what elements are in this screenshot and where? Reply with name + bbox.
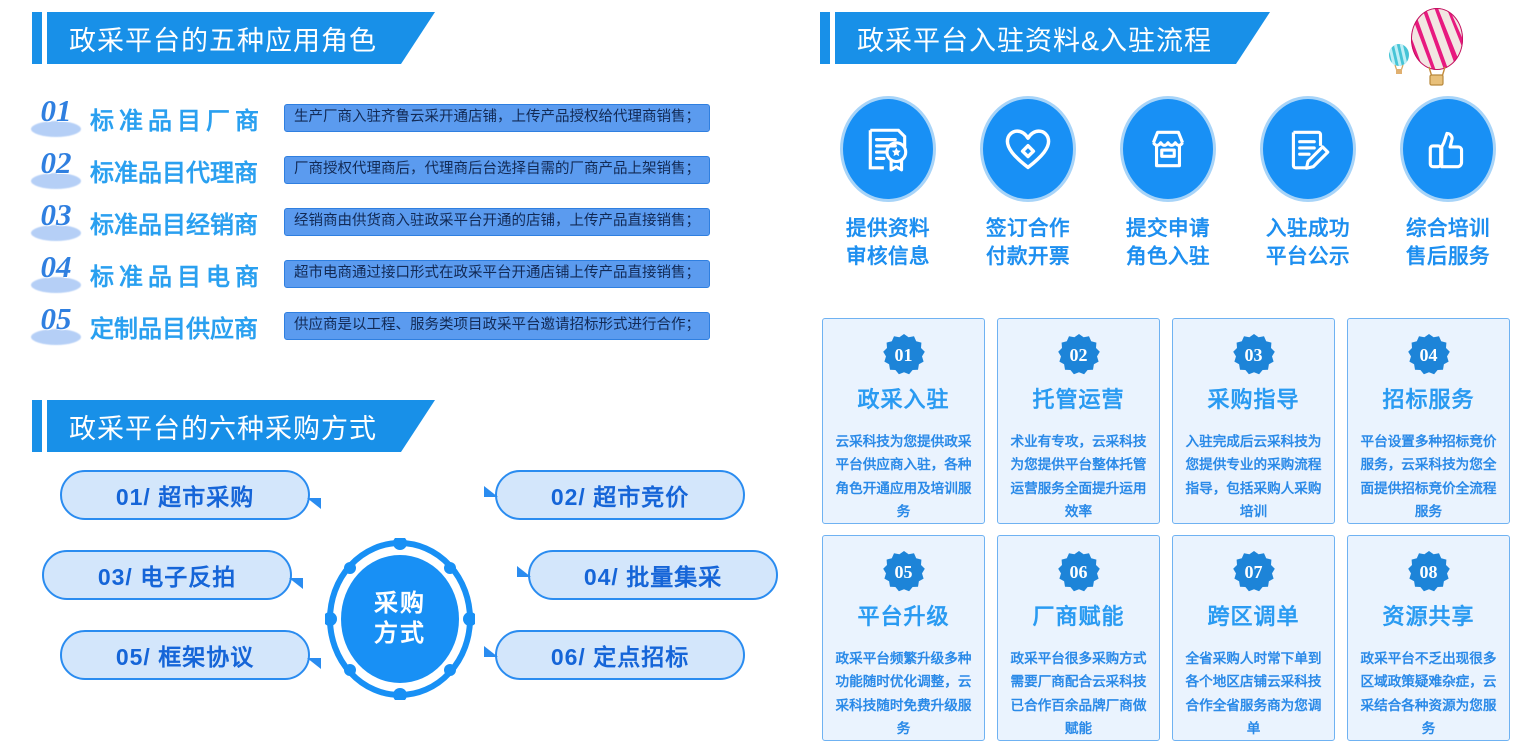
card-badge-number: 02 [1057, 333, 1101, 377]
step-caption-line2: 售后服务 [1406, 243, 1490, 271]
step-caption: 提供资料 审核信息 [846, 215, 930, 270]
step-item: 签订合作 付款开票 [958, 96, 1098, 291]
card-badge: 05 [882, 550, 926, 594]
method-pill-05[interactable]: 05/ 框架协议 [60, 630, 310, 680]
step-caption-line1: 提交申请 [1126, 215, 1210, 243]
handshake-hearts-icon [1002, 123, 1054, 175]
hot-air-balloon-icon [1385, 5, 1477, 93]
role-row: 02 标准品目代理商 厂商授权代理商后，代理商后台选择自需的厂商产品上架销售； [28, 144, 788, 196]
role-description-chip: 经销商由供货商入驻政采平台开通的店铺，上传产品直接销售； [284, 208, 710, 236]
method-pill-text-01: 01/ 超市采购 [116, 478, 254, 512]
card-badge: 03 [1232, 333, 1276, 377]
service-card[interactable]: 06 厂商赋能 政采平台很多采购方式需要厂商配合云采科技已合作百余品牌厂商做赋能 [997, 535, 1160, 741]
card-badge-number: 01 [882, 333, 926, 377]
banner-accent-bar [820, 12, 830, 64]
role-number: 01 [28, 95, 84, 141]
banner-gap [42, 12, 47, 64]
card-description: 政采平台频繁升级多种功能随时优化调整，云采科技随时免费升级服务 [823, 647, 984, 741]
method-pill-06[interactable]: 06/ 定点招标 [495, 630, 745, 680]
card-badge: 06 [1057, 550, 1101, 594]
service-card[interactable]: 04 招标服务 平台设置多种招标竞价服务，云采科技为您全面提供招标竞价全流程服务 [1347, 318, 1510, 524]
role-label: 标准品目电商 [90, 257, 276, 292]
role-number-text: 01 [28, 93, 84, 129]
card-description: 平台设置多种招标竞价服务，云采科技为您全面提供招标竞价全流程服务 [1348, 430, 1509, 524]
card-badge-number: 03 [1232, 333, 1276, 377]
role-row: 04 标准品目电商 超市电商通过接口形式在政采平台开通店铺上传产品直接销售； [28, 248, 788, 300]
banner-plate: 政采平台的六种采购方式 [47, 400, 435, 452]
card-description: 术业有专攻，云采科技为您提供平台整体托管运营服务全面提升运用效率 [998, 430, 1159, 524]
role-description-chip: 供应商是以工程、服务类项目政采平台邀请招标形式进行合作； [284, 312, 710, 340]
role-description-chip: 厂商授权代理商后，代理商后台选择自需的厂商产品上架销售； [284, 156, 710, 184]
step-item: 提交申请 角色入驻 [1098, 96, 1238, 291]
role-number-text: 05 [28, 301, 84, 337]
role-label: 标准品目经销商 [90, 205, 276, 240]
role-description-chip: 生产厂商入驻齐鲁云采开通店铺，上传产品授权给代理商销售； [284, 104, 710, 132]
card-description: 全省采购人时常下单到各个地区店铺云采科技合作全省服务商为您调单 [1173, 647, 1334, 741]
service-card[interactable]: 08 资源共享 政采平台不乏出现很多区域政策疑难杂症，云采结合各种资源为您服务 [1347, 535, 1510, 741]
roles-section-title: 政采平台的五种应用角色 [69, 19, 377, 58]
card-badge: 04 [1407, 333, 1451, 377]
method-pill-04[interactable]: 04/ 批量集采 [528, 550, 778, 600]
step-caption: 提交申请 角色入驻 [1126, 215, 1210, 270]
banner-plate: 政采平台入驻资料&入驻流程 [835, 12, 1270, 64]
banner-gap [42, 400, 47, 452]
card-badge-number: 04 [1407, 333, 1451, 377]
role-label: 标准品目代理商 [90, 153, 276, 188]
card-description: 政采平台不乏出现很多区域政策疑难杂症，云采结合各种资源为您服务 [1348, 647, 1509, 741]
hub-line-2: 方式 [374, 619, 426, 649]
method-pill-01[interactable]: 01/ 超市采购 [60, 470, 310, 520]
step-caption-line1: 提供资料 [846, 215, 930, 243]
role-number: 03 [28, 199, 84, 245]
role-label: 标准品目厂商 [90, 101, 276, 136]
role-description-chip: 超市电商通过接口形式在政采平台开通店铺上传产品直接销售； [284, 260, 710, 288]
pill-tail-icon [307, 498, 321, 509]
service-card[interactable]: 07 跨区调单 全省采购人时常下单到各个地区店铺云采科技合作全省服务商为您调单 [1172, 535, 1335, 741]
service-card[interactable]: 01 政采入驻 云采科技为您提供政采平台供应商入驻，各种角色开通应用及培训服务 [822, 318, 985, 524]
card-title: 平台升级 [857, 599, 949, 631]
pill-tail-icon [484, 486, 498, 497]
method-pill-text-03: 03/ 电子反拍 [98, 558, 236, 592]
storefront-icon [1143, 124, 1193, 174]
role-number-text: 03 [28, 197, 84, 233]
card-title: 资源共享 [1382, 599, 1474, 631]
method-pill-text-04: 04/ 批量集采 [584, 558, 722, 592]
role-number: 02 [28, 147, 84, 193]
hub-line-1: 采购 [374, 589, 426, 619]
service-card[interactable]: 02 托管运营 术业有专攻，云采科技为您提供平台整体托管运营服务全面提升运用效率 [997, 318, 1160, 524]
card-description: 云采科技为您提供政采平台供应商入驻，各种角色开通应用及培训服务 [823, 430, 984, 524]
step-caption: 入驻成功 平台公示 [1266, 215, 1350, 270]
banner-accent-bar [32, 400, 42, 452]
role-number: 04 [28, 251, 84, 297]
hub-core: 采购 方式 [341, 555, 459, 683]
method-pill-02[interactable]: 02/ 超市竞价 [495, 470, 745, 520]
step-caption-line1: 综合培训 [1406, 215, 1490, 243]
step-icon-circle [980, 96, 1076, 202]
role-row: 05 定制品目供应商 供应商是以工程、服务类项目政采平台邀请招标形式进行合作； [28, 300, 788, 352]
onboarding-steps: 提供资料 审核信息 签订合作 付款开票 [818, 96, 1518, 291]
role-number-text: 02 [28, 145, 84, 181]
banner-plate: 政采平台的五种应用角色 [47, 12, 435, 64]
service-card[interactable]: 05 平台升级 政采平台频繁升级多种功能随时优化调整，云采科技随时免费升级服务 [822, 535, 985, 741]
banner-accent-bar [32, 12, 42, 64]
step-caption: 综合培训 售后服务 [1406, 215, 1490, 270]
methods-section-banner: 政采平台的六种采购方式 [32, 400, 435, 452]
step-icon-circle [1120, 96, 1216, 202]
role-row: 01 标准品目厂商 生产厂商入驻齐鲁云采开通店铺，上传产品授权给代理商销售； [28, 92, 788, 144]
service-cards-grid: 01 政采入驻 云采科技为您提供政采平台供应商入驻，各种角色开通应用及培训服务 … [822, 318, 1512, 746]
step-caption-line1: 入驻成功 [1266, 215, 1350, 243]
step-item: 入驻成功 平台公示 [1238, 96, 1378, 291]
card-title: 招标服务 [1382, 382, 1474, 414]
flow-section-banner: 政采平台入驻资料&入驻流程 [820, 12, 1270, 64]
role-label: 定制品目供应商 [90, 309, 276, 344]
card-badge-number: 05 [882, 550, 926, 594]
step-caption-line1: 签订合作 [986, 215, 1070, 243]
method-pill-text-05: 05/ 框架协议 [116, 638, 254, 672]
step-icon-circle [840, 96, 936, 202]
step-caption-line2: 付款开票 [986, 243, 1070, 271]
step-item: 综合培训 售后服务 [1378, 96, 1518, 291]
card-badge: 01 [882, 333, 926, 377]
method-pill-03[interactable]: 03/ 电子反拍 [42, 550, 292, 600]
step-caption-line2: 平台公示 [1266, 243, 1350, 271]
thumbs-up-icon [1423, 124, 1473, 174]
pill-tail-icon [517, 566, 531, 577]
step-icon-circle [1400, 96, 1496, 202]
card-title: 托管运营 [1032, 382, 1124, 414]
card-title: 采购指导 [1207, 382, 1299, 414]
step-item: 提供资料 审核信息 [818, 96, 958, 291]
card-badge: 07 [1232, 550, 1276, 594]
card-description: 政采平台很多采购方式需要厂商配合云采科技已合作百余品牌厂商做赋能 [998, 647, 1159, 741]
banner-gap [830, 12, 835, 64]
pill-tail-icon [484, 646, 498, 657]
role-number-text: 04 [28, 249, 84, 285]
pill-tail-icon [289, 578, 303, 589]
procurement-hub: 采购 方式 [325, 538, 475, 700]
card-title: 厂商赋能 [1032, 599, 1124, 631]
step-caption-line2: 审核信息 [846, 243, 930, 271]
method-pill-text-02: 02/ 超市竞价 [551, 478, 689, 512]
roles-section-banner: 政采平台的五种应用角色 [32, 12, 435, 64]
step-icon-circle [1260, 96, 1356, 202]
card-badge: 08 [1407, 550, 1451, 594]
card-badge-number: 07 [1232, 550, 1276, 594]
step-caption: 签订合作 付款开票 [986, 215, 1070, 270]
card-badge-number: 08 [1407, 550, 1451, 594]
card-description: 入驻完成后云采科技为您提供专业的采购流程指导，包括采购人采购培训 [1173, 430, 1334, 524]
step-caption-line2: 角色入驻 [1126, 243, 1210, 271]
flow-section-title: 政采平台入驻资料&入驻流程 [857, 19, 1212, 58]
role-number: 05 [28, 303, 84, 349]
document-edit-icon [1283, 124, 1333, 174]
service-card[interactable]: 03 采购指导 入驻完成后云采科技为您提供专业的采购流程指导，包括采购人采购培训 [1172, 318, 1335, 524]
infographic-root: 政采平台的五种应用角色 01 标准品目厂商 生产厂商入驻齐鲁云采开通店铺，上传产… [0, 0, 1529, 752]
roles-list: 01 标准品目厂商 生产厂商入驻齐鲁云采开通店铺，上传产品授权给代理商销售； 0… [28, 92, 788, 352]
card-title: 政采入驻 [857, 382, 949, 414]
role-row: 03 标准品目经销商 经销商由供货商入驻政采平台开通的店铺，上传产品直接销售； [28, 196, 788, 248]
methods-section-title: 政采平台的六种采购方式 [69, 407, 377, 446]
pill-tail-icon [307, 658, 321, 669]
card-title: 跨区调单 [1207, 599, 1299, 631]
method-pill-text-06: 06/ 定点招标 [551, 638, 689, 672]
certificate-icon [863, 124, 913, 174]
card-badge-number: 06 [1057, 550, 1101, 594]
card-badge: 02 [1057, 333, 1101, 377]
